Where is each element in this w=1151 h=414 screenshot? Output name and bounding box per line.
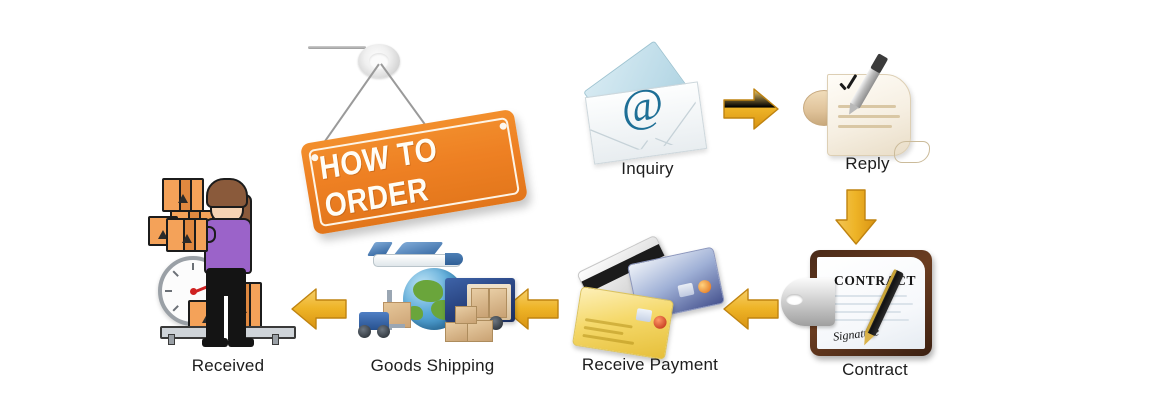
credit-cards-icon <box>570 245 730 360</box>
forklift-wheel <box>377 325 390 338</box>
step-inquiry: @ Inquiry <box>575 55 720 190</box>
contract-line <box>833 311 901 313</box>
at-symbol: @ <box>618 76 667 134</box>
person-legs <box>206 268 246 340</box>
ground-crate <box>455 306 477 324</box>
sign-title: HOW TO ORDER <box>316 111 512 233</box>
step-received: Received <box>148 178 308 378</box>
person-hair <box>206 178 248 208</box>
held-box <box>166 218 208 252</box>
person-figure <box>148 178 308 358</box>
step-goods-shipping: Goods Shipping <box>345 240 520 395</box>
step-receive-payment: Receive Payment <box>570 245 730 395</box>
email-envelope-icon: @ <box>585 59 705 159</box>
scroll-line <box>838 115 900 118</box>
plane-globe-truck-icon <box>345 240 525 355</box>
airplane-icon <box>367 242 463 272</box>
step-label-reply: Reply <box>795 154 940 174</box>
card-text-line <box>582 334 634 345</box>
clipboard-clamp <box>781 278 835 326</box>
step-label-contract: Contract <box>795 360 955 380</box>
card-logo <box>697 279 712 294</box>
arrow-inquiry-to-reply <box>722 86 780 132</box>
hook-hole <box>369 53 389 69</box>
clipboard-contract-icon: CONTRACT Signature <box>795 250 955 360</box>
step-label-receive-payment: Receive Payment <box>570 355 730 375</box>
person-boxes-scale-icon <box>148 178 308 358</box>
box-arrow-marking <box>182 234 192 243</box>
step-label-received: Received <box>148 356 308 376</box>
arrow-contract-to-payment <box>722 286 780 332</box>
arrow-reply-to-contract <box>833 188 879 246</box>
person-shoe <box>228 338 254 347</box>
card-text-line <box>584 326 624 335</box>
forklift-icon <box>353 290 407 338</box>
step-contract: CONTRACT Signature Contract <box>795 250 955 400</box>
hook-rod <box>308 46 366 49</box>
leg-gap <box>224 296 228 340</box>
plane-nose <box>445 253 463 265</box>
card-logo <box>653 315 668 330</box>
hook-ring-icon <box>358 44 400 78</box>
diagram-canvas: HOW TO ORDER @ Inquiry <box>0 0 1151 414</box>
truck-crate <box>489 288 507 318</box>
forklift-fork <box>387 324 405 328</box>
pen-cap <box>870 53 888 73</box>
scroll-line <box>838 125 892 128</box>
forklift-wheel <box>358 325 371 338</box>
scroll-pen-icon <box>795 48 925 158</box>
step-label-inquiry: Inquiry <box>575 159 720 179</box>
clamp-hole <box>786 294 803 305</box>
how-to-order-sign: HOW TO ORDER <box>296 38 536 238</box>
step-label-goods-shipping: Goods Shipping <box>345 356 520 376</box>
globe-landmass <box>413 280 443 302</box>
contract-line <box>833 303 913 305</box>
contract-line <box>833 295 907 297</box>
step-reply: Reply <box>795 48 940 188</box>
card-chip <box>636 308 653 322</box>
card-chip <box>677 283 694 298</box>
ground-crate <box>445 322 469 342</box>
contract-heading: CONTRACT <box>834 273 916 289</box>
person-shoe <box>202 338 228 347</box>
